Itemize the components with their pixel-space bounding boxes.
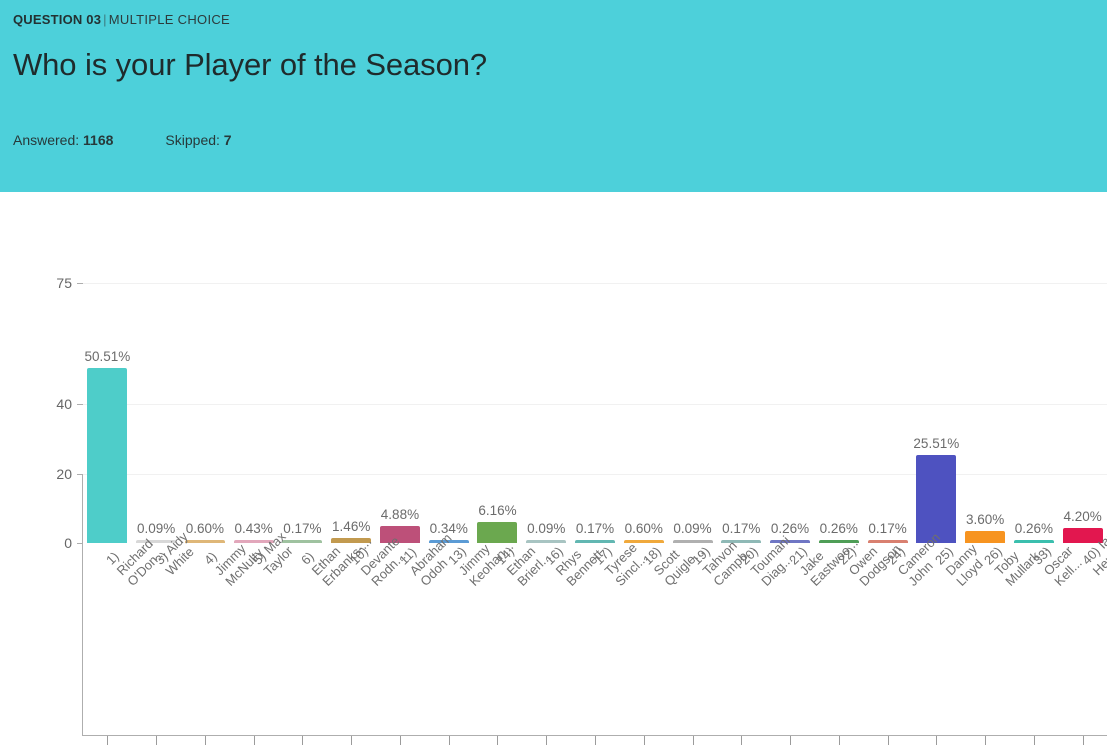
x-tick-mark xyxy=(888,736,889,745)
x-tick-mark xyxy=(107,736,108,745)
x-tick-mark xyxy=(351,736,352,745)
y-tick-label: 75 xyxy=(38,276,72,290)
response-stats: Answered: 1168Skipped: 7 xyxy=(13,131,232,149)
x-tick-mark xyxy=(741,736,742,745)
y-tick-label: 40 xyxy=(38,397,72,411)
skipped-label: Skipped: xyxy=(165,132,219,148)
bar-chart: 0204075 50.51%0.09%0.60%0.43%0.17%1.46%4… xyxy=(0,192,1107,631)
x-tick-mark xyxy=(205,736,206,745)
x-tick-mark xyxy=(497,736,498,745)
question-meta: QUESTION 03|MULTIPLE CHOICE xyxy=(13,12,1107,28)
answered-stat: Answered: 1168 xyxy=(13,131,113,149)
y-tick-label: 0 xyxy=(38,536,72,550)
x-tick-mark xyxy=(595,736,596,745)
question-number: QUESTION 03 xyxy=(13,12,101,27)
y-tick-mark xyxy=(77,543,83,544)
answered-value: 1168 xyxy=(83,132,113,148)
x-tick-mark xyxy=(1083,736,1084,745)
plot-area xyxy=(83,283,1107,543)
x-tick-mark xyxy=(1034,736,1035,745)
x-tick-mark xyxy=(546,736,547,745)
x-tick-mark xyxy=(985,736,986,745)
bar-value-label: 50.51% xyxy=(72,350,142,364)
bar-value-label: 4.20% xyxy=(1048,510,1107,524)
answered-label: Answered: xyxy=(13,132,79,148)
bar[interactable] xyxy=(87,368,127,543)
bar-value-label: 6.16% xyxy=(462,504,532,518)
x-tick-mark xyxy=(839,736,840,745)
bar-value-label: 4.88% xyxy=(365,508,435,522)
x-tick-mark xyxy=(156,736,157,745)
bar-value-label: 25.51% xyxy=(901,437,971,451)
x-tick-mark xyxy=(449,736,450,745)
page-title: Who is your Player of the Season? xyxy=(13,47,1107,83)
y-tick-label: 20 xyxy=(38,467,72,481)
x-tick-mark xyxy=(693,736,694,745)
x-tick-mark xyxy=(790,736,791,745)
x-tick-mark xyxy=(644,736,645,745)
x-tick-mark xyxy=(400,736,401,745)
x-tick-mark xyxy=(254,736,255,745)
skipped-stat: Skipped: 7 xyxy=(165,131,231,149)
x-tick-mark xyxy=(302,736,303,745)
meta-separator: | xyxy=(101,12,109,27)
x-tick-mark xyxy=(936,736,937,745)
skipped-value: 7 xyxy=(224,132,232,148)
question-type: MULTIPLE CHOICE xyxy=(109,12,230,27)
question-header-band: QUESTION 03|MULTIPLE CHOICE Who is your … xyxy=(0,0,1107,192)
